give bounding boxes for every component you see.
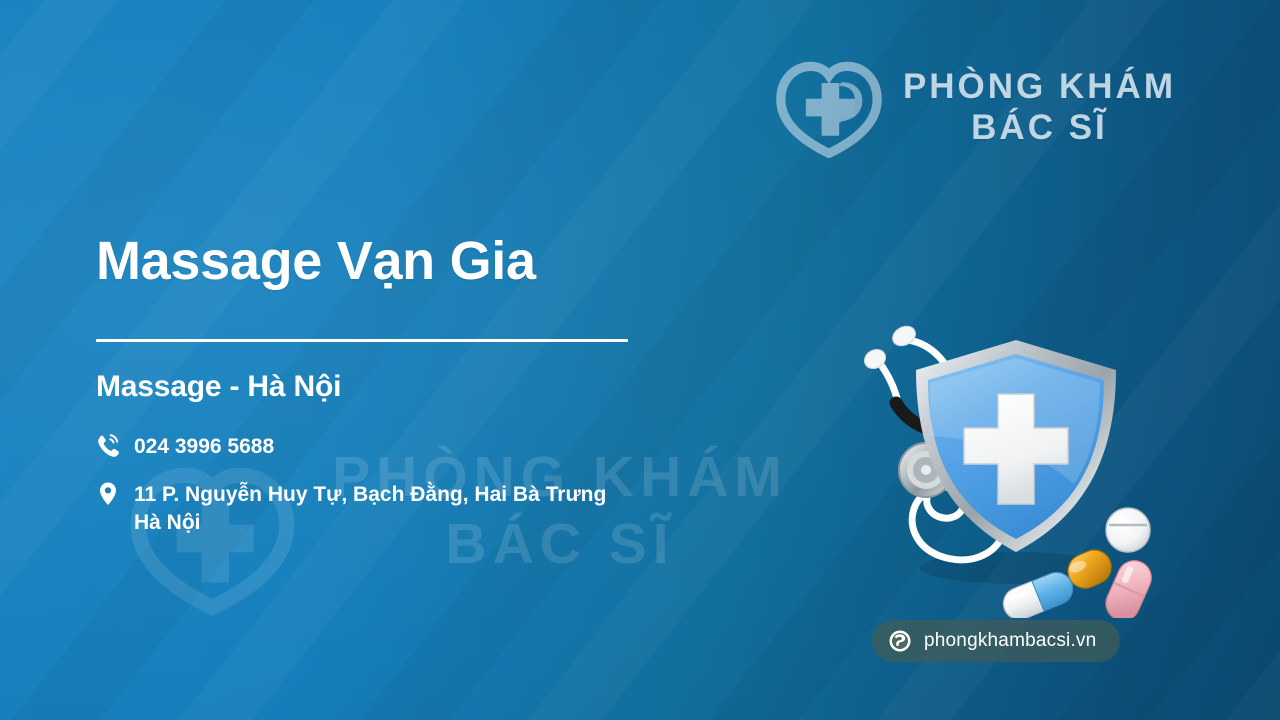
address-text: 11 P. Nguyễn Huy Tự, Bạch Đằng, Hai Bà T… bbox=[134, 480, 606, 538]
clinic-title: Massage Vạn Gia bbox=[96, 232, 796, 290]
banner-canvas: PHÒNG KHÁM BÁC SĨ PHÒNG KHÁM BÁC SĨ Mass… bbox=[0, 0, 1280, 720]
stethoscope-shield-pills-illustration bbox=[838, 318, 1168, 618]
phone-row[interactable]: 024 3996 5688 bbox=[96, 432, 796, 461]
phone-call-icon bbox=[96, 433, 120, 459]
address-row[interactable]: 11 P. Nguyễn Huy Tự, Bạch Đằng, Hai Bà T… bbox=[96, 480, 796, 538]
brand-text: PHÒNG KHÁM BÁC SĨ bbox=[903, 67, 1176, 148]
map-pin-icon bbox=[96, 481, 120, 507]
title-divider bbox=[96, 339, 628, 342]
phone-number: 024 3996 5688 bbox=[134, 432, 274, 461]
brand-line-2: BÁC SĨ bbox=[903, 108, 1176, 149]
heart-medical-cross-icon bbox=[773, 58, 885, 158]
info-panel: Massage Vạn Gia Massage - Hà Nội 024 399… bbox=[96, 232, 796, 537]
website-url: phongkhambacsi.vn bbox=[924, 630, 1096, 652]
brand-logo: PHÒNG KHÁM BÁC SĨ bbox=[773, 58, 1176, 158]
stethoscope-eartips bbox=[861, 322, 919, 372]
clinic-subtitle: Massage - Hà Nội bbox=[96, 370, 796, 404]
brand-line-1: PHÒNG KHÁM bbox=[903, 67, 1176, 108]
white-round-tablet bbox=[1106, 508, 1150, 552]
website-badge[interactable]: phongkhambacsi.vn bbox=[872, 620, 1120, 662]
address-line-1: 11 P. Nguyễn Huy Tự, Bạch Đằng, Hai Bà T… bbox=[134, 481, 606, 509]
globe-icon bbox=[888, 629, 912, 653]
address-line-2: Hà Nội bbox=[134, 509, 606, 537]
